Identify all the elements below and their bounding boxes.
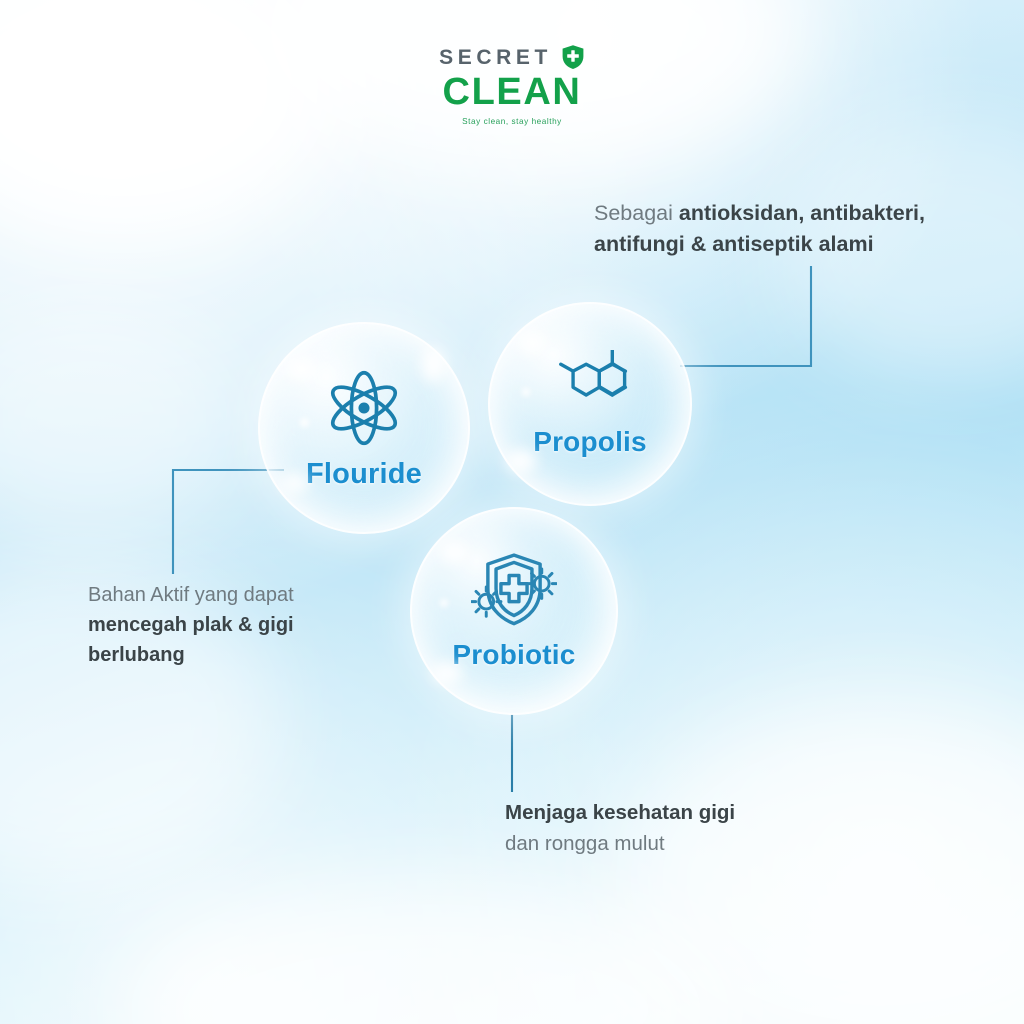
bubble-sparkle <box>440 599 448 607</box>
shield-plus-icon <box>561 44 585 70</box>
callout-propolis-bold-2: antifungi & antiseptik alami <box>594 232 874 256</box>
brand-logo: SECRET CLEAN Stay clean, stay healthy <box>0 44 1024 126</box>
molecule-hexagon-icon <box>550 350 630 420</box>
bubble-highlight <box>282 474 308 492</box>
callout-propolis: Sebagai antioksidan, antibakteri, antifu… <box>594 198 994 259</box>
bubble-highlight <box>506 450 536 472</box>
cloud-blob <box>120 880 740 1024</box>
ingredient-label-probiotic: Probiotic <box>452 639 575 671</box>
callout-flouride-light: Bahan Aktif yang dapat <box>88 584 294 606</box>
bubble-sparkle <box>522 388 530 396</box>
infographic-canvas: SECRET CLEAN Stay clean, stay healthy <box>0 0 1024 1024</box>
logo-clean-text: CLEAN <box>0 73 1024 111</box>
callout-flouride-bold-1: mencegah plak & gigi <box>88 614 294 636</box>
logo-tagline: Stay clean, stay healthy <box>0 117 1024 126</box>
ingredient-bubble-flouride[interactable]: Flouride <box>258 322 470 534</box>
callout-probiotic: Menjaga kesehatan gigi dan rongga mulut <box>505 798 835 860</box>
callout-flouride: Bahan Aktif yang dapat mencegah plak & g… <box>88 580 388 670</box>
callout-flouride-bold-2: berlubang <box>88 644 185 666</box>
bubble-highlight <box>440 541 468 563</box>
connector-flouride <box>168 466 288 578</box>
shield-germ-icon <box>471 551 557 631</box>
atom-icon <box>322 366 406 450</box>
logo-secret-text: SECRET <box>439 47 552 68</box>
bubble-highlight <box>432 663 462 683</box>
callout-propolis-light: Sebagai <box>594 201 673 225</box>
ingredient-bubble-propolis[interactable]: Propolis <box>488 302 692 506</box>
callout-propolis-bold-1: antioksidan, antibakteri, <box>679 201 925 225</box>
cloud-blob <box>0 300 240 540</box>
bubble-sparkle <box>300 418 309 427</box>
connector-probiotic <box>505 712 519 794</box>
cloud-blob <box>620 700 1024 1024</box>
logo-wordmark-top: SECRET <box>0 44 1024 70</box>
connector-propolis <box>676 262 816 374</box>
callout-probiotic-bold: Menjaga kesehatan gigi <box>505 801 735 824</box>
bubble-highlight <box>518 332 546 354</box>
ingredient-label-flouride: Flouride <box>306 458 422 491</box>
ingredient-bubble-probiotic[interactable]: Probiotic <box>410 507 618 715</box>
bubble-highlight <box>286 358 316 380</box>
bubble-highlight <box>422 348 444 382</box>
ingredient-label-propolis: Propolis <box>533 426 647 458</box>
callout-probiotic-light: dan rongga mulut <box>505 832 665 855</box>
